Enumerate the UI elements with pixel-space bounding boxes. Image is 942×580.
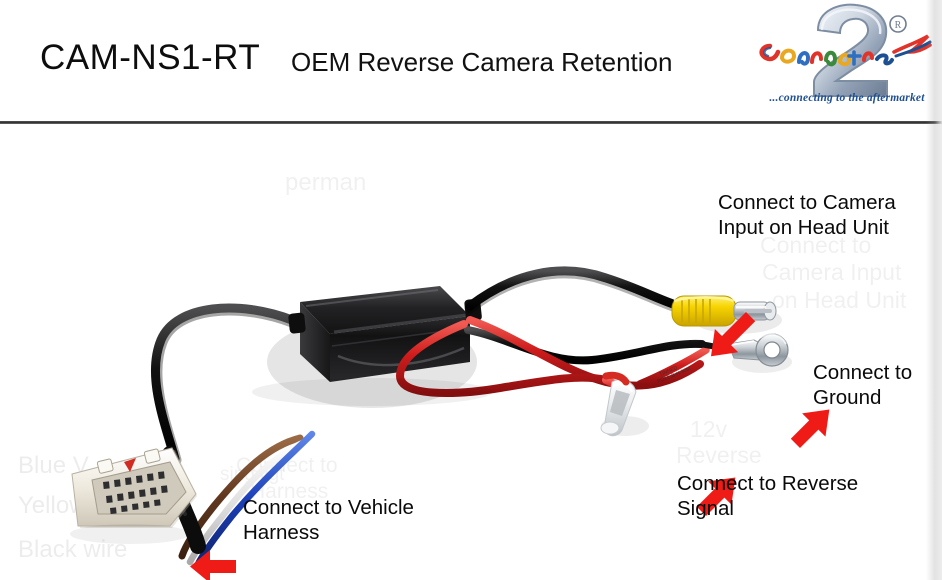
- callout-camera-input: Connect to Camera Input on Head Unit: [718, 190, 896, 240]
- connects2-logo: R ...connecting to: [752, 2, 938, 118]
- callout-vehicle-harness: Connect to Vehicle Harness: [243, 495, 414, 545]
- registered-trademark-icon: R: [890, 16, 906, 32]
- page-header: CAM-NS1-RT OEM Reverse Camera Retention: [0, 0, 942, 122]
- logo-numeral-2: [814, 5, 887, 96]
- slide-page: CAM-NS1-RT OEM Reverse Camera Retention: [0, 0, 942, 580]
- ring-terminal: [728, 334, 792, 373]
- svg-text:R: R: [895, 20, 902, 31]
- callout-reverse-signal: Connect to Reverse Signal: [677, 471, 858, 521]
- vehicle-plug: [72, 448, 197, 528]
- logo-artwork: R: [752, 2, 938, 98]
- page-title: OEM Reverse Camera Retention: [291, 47, 672, 78]
- rca-connector: [672, 296, 782, 334]
- logo-tagline: ...connecting to the aftermarket: [756, 92, 938, 104]
- product-code: CAM-NS1-RT: [40, 38, 260, 78]
- grommet-left: [288, 312, 306, 334]
- callout-ground: Connect to Ground: [813, 360, 912, 410]
